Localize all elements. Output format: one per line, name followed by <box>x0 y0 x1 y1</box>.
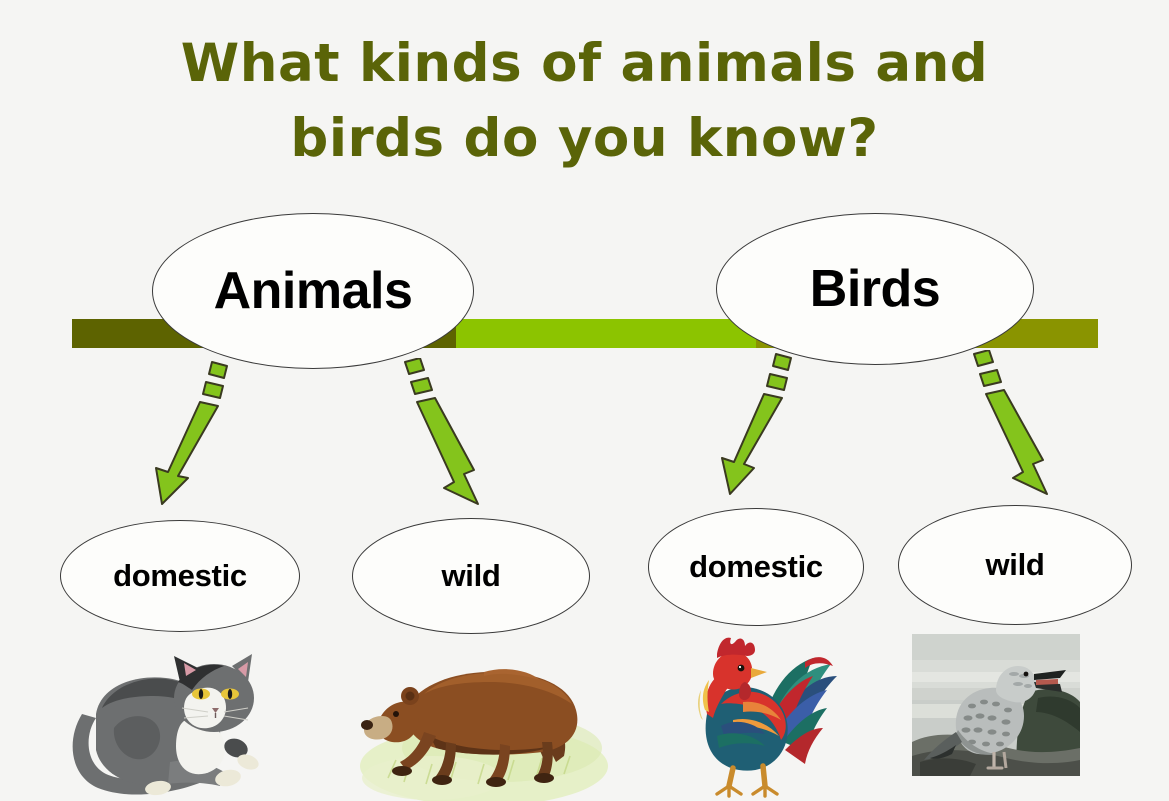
illustration-bear <box>352 628 610 801</box>
node-animals-label: Animals <box>214 261 413 321</box>
arrow-birds-to-domestic <box>700 350 810 500</box>
node-birds-domestic[interactable]: domestic <box>648 508 864 626</box>
page-title: What kinds of animals and birds do you k… <box>0 26 1169 177</box>
node-animals[interactable]: Animals <box>152 213 474 369</box>
title-line-2: birds do you know? <box>0 101 1169 176</box>
node-animals-domestic-label: domestic <box>113 558 247 594</box>
illustration-cat <box>62 636 278 801</box>
node-birds[interactable]: Birds <box>716 213 1034 365</box>
title-line-1: What kinds of animals and <box>0 26 1169 101</box>
node-birds-wild-label: wild <box>985 547 1044 583</box>
arrow-birds-to-wild <box>955 350 1065 500</box>
node-animals-wild[interactable]: wild <box>352 518 590 634</box>
band-segment-middle <box>456 319 756 348</box>
illustration-seagull <box>910 632 1082 778</box>
node-birds-domestic-label: domestic <box>689 549 823 585</box>
node-animals-wild-label: wild <box>441 558 500 594</box>
illustration-rooster <box>655 632 860 801</box>
slide-canvas: What kinds of animals and birds do you k… <box>0 0 1169 801</box>
arrow-animals-to-domestic <box>140 358 250 508</box>
node-birds-label: Birds <box>810 259 940 319</box>
node-animals-domestic[interactable]: domestic <box>60 520 300 632</box>
arrow-animals-to-wild <box>382 358 492 508</box>
node-birds-wild[interactable]: wild <box>898 505 1132 625</box>
